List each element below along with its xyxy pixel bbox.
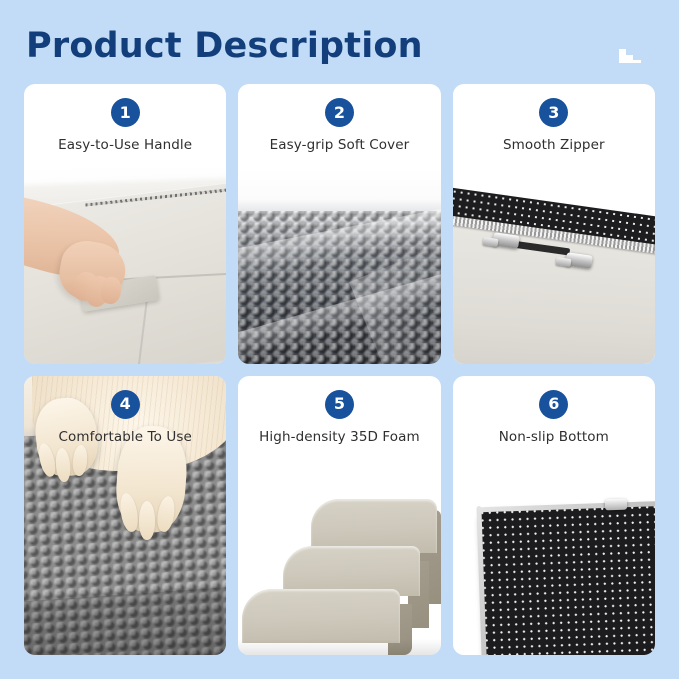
card-image-foam-stairs — [238, 460, 440, 656]
card-label-6: Non-slip Bottom — [453, 429, 655, 445]
card-image-handle — [24, 168, 226, 364]
card-header-5: 5 High-density 35D Foam — [238, 376, 440, 445]
card-image-paws — [24, 376, 226, 656]
feature-card-5[interactable]: 5 High-density 35D Foam — [238, 376, 440, 656]
feature-card-grid: 1 Easy-to-Use Handle 2 Easy-grip Soft Co… — [24, 84, 655, 655]
step-badge-2: 2 — [325, 98, 354, 127]
card-header-2: 2 Easy-grip Soft Cover — [238, 84, 440, 153]
step-badge-3: 3 — [539, 98, 568, 127]
card-label-1: Easy-to-Use Handle — [24, 137, 226, 153]
card-image-soft-cover — [238, 168, 440, 364]
card-header-3: 3 Smooth Zipper — [453, 84, 655, 153]
card-label-5: High-density 35D Foam — [238, 429, 440, 445]
product-description-infographic: Product Description 1 — [0, 0, 679, 679]
card-image-non-slip-bottom — [453, 460, 655, 656]
feature-card-1[interactable]: 1 Easy-to-Use Handle — [24, 84, 226, 364]
step-badge-5: 5 — [325, 390, 354, 419]
stairs-step-icon — [617, 42, 643, 64]
step-badge-6: 6 — [539, 390, 568, 419]
feature-card-2[interactable]: 2 Easy-grip Soft Cover — [238, 84, 440, 364]
feature-card-6[interactable]: 6 Non-slip Bottom — [453, 376, 655, 656]
feature-card-3[interactable]: 3 Smooth Zipper — [453, 84, 655, 364]
page-title: Product Description — [26, 26, 423, 66]
card-header-6: 6 Non-slip Bottom — [453, 376, 655, 445]
card-label-3: Smooth Zipper — [453, 137, 655, 153]
step-badge-1: 1 — [111, 98, 140, 127]
card-image-zipper — [453, 168, 655, 364]
feature-card-4[interactable]: 4 Comfortable To Use — [24, 376, 226, 656]
card-header-1: 1 Easy-to-Use Handle — [24, 84, 226, 153]
header: Product Description — [0, 0, 679, 84]
card-label-2: Easy-grip Soft Cover — [238, 137, 440, 153]
